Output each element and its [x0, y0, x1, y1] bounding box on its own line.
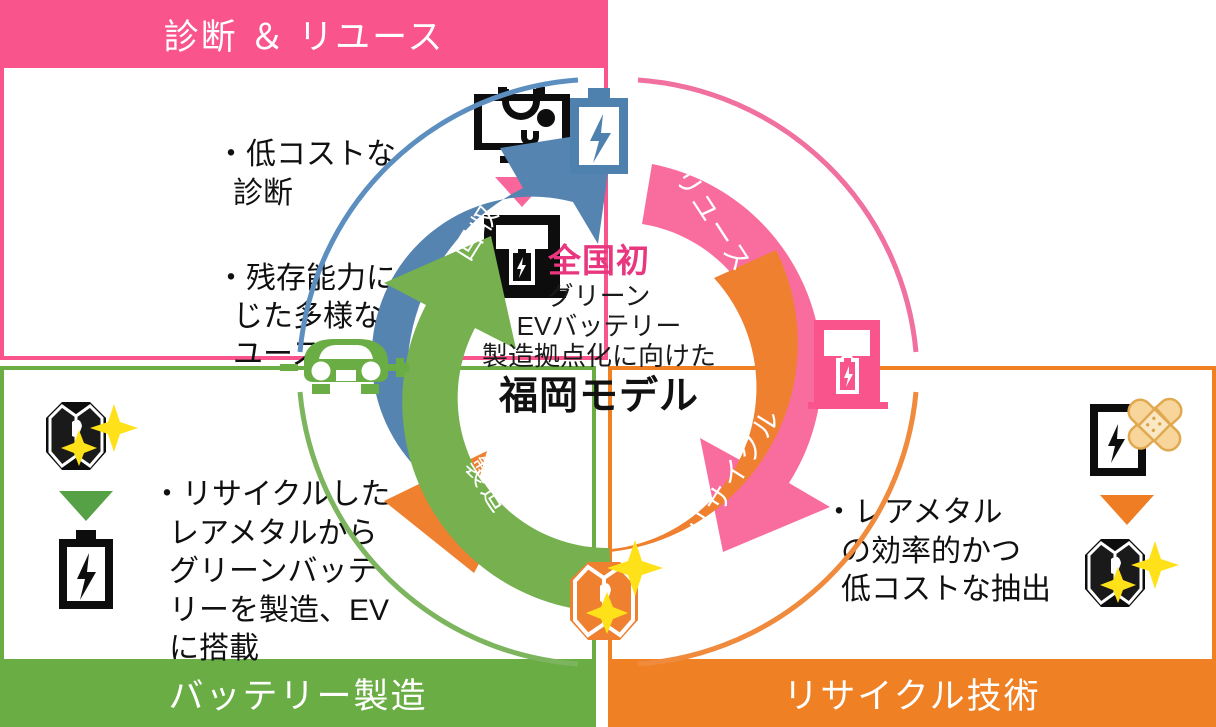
bullet-list-recycling-technology: ・レアメタル の効率的かつ 低コストな抽出	[824, 456, 1114, 656]
bullet-item: ・レアメタル の効率的かつ 低コストな抽出	[824, 494, 1114, 609]
ev-car-green-icon	[280, 324, 410, 411]
bullet-item: ・リサイクルした レアメタルから グリーンバッテ リーを製造、EV に搭載	[152, 476, 402, 668]
diagnostic-monitor-stethoscope-icon	[470, 86, 574, 171]
charging-station-pink-icon	[806, 318, 890, 415]
center-first-line: 全国初	[434, 242, 764, 281]
sparkling-gem-orange-icon	[558, 540, 668, 663]
center-model-name: 福岡モデル	[434, 374, 764, 420]
quadrant-recycling-technology: リサイクル技術	[608, 366, 1216, 727]
sparkling-gem-icon	[32, 396, 140, 485]
infographic-root: 取外し・回収	[0, 0, 1216, 727]
center-sub-lines: グリーン EVバッテリー 製造拠点化に向けた	[434, 281, 764, 372]
quadrant-header-recycling-technology: リサイクル技術	[608, 659, 1216, 727]
battery-bolt-blue-icon	[566, 82, 632, 181]
bullet-item: ・低コストな 診断	[216, 136, 446, 213]
down-triangle-pink-icon	[495, 177, 549, 207]
quadrant-header-diagnosis-reuse: 診断 ＆ リユース	[0, 0, 608, 68]
icon-stack-battery-manufacturing	[32, 396, 140, 616]
center-caption: 全国初 グリーン EVバッテリー 製造拠点化に向けた 福岡モデル	[434, 242, 764, 419]
battery-bolt-icon	[55, 527, 117, 616]
quadrant-battery-manufacturing: バッテリー製造	[0, 366, 596, 727]
bullet-list-battery-manufacturing: ・リサイクルした レアメタルから グリーンバッテ リーを製造、EV に搭載	[152, 438, 402, 715]
down-triangle-green-icon	[59, 491, 113, 521]
